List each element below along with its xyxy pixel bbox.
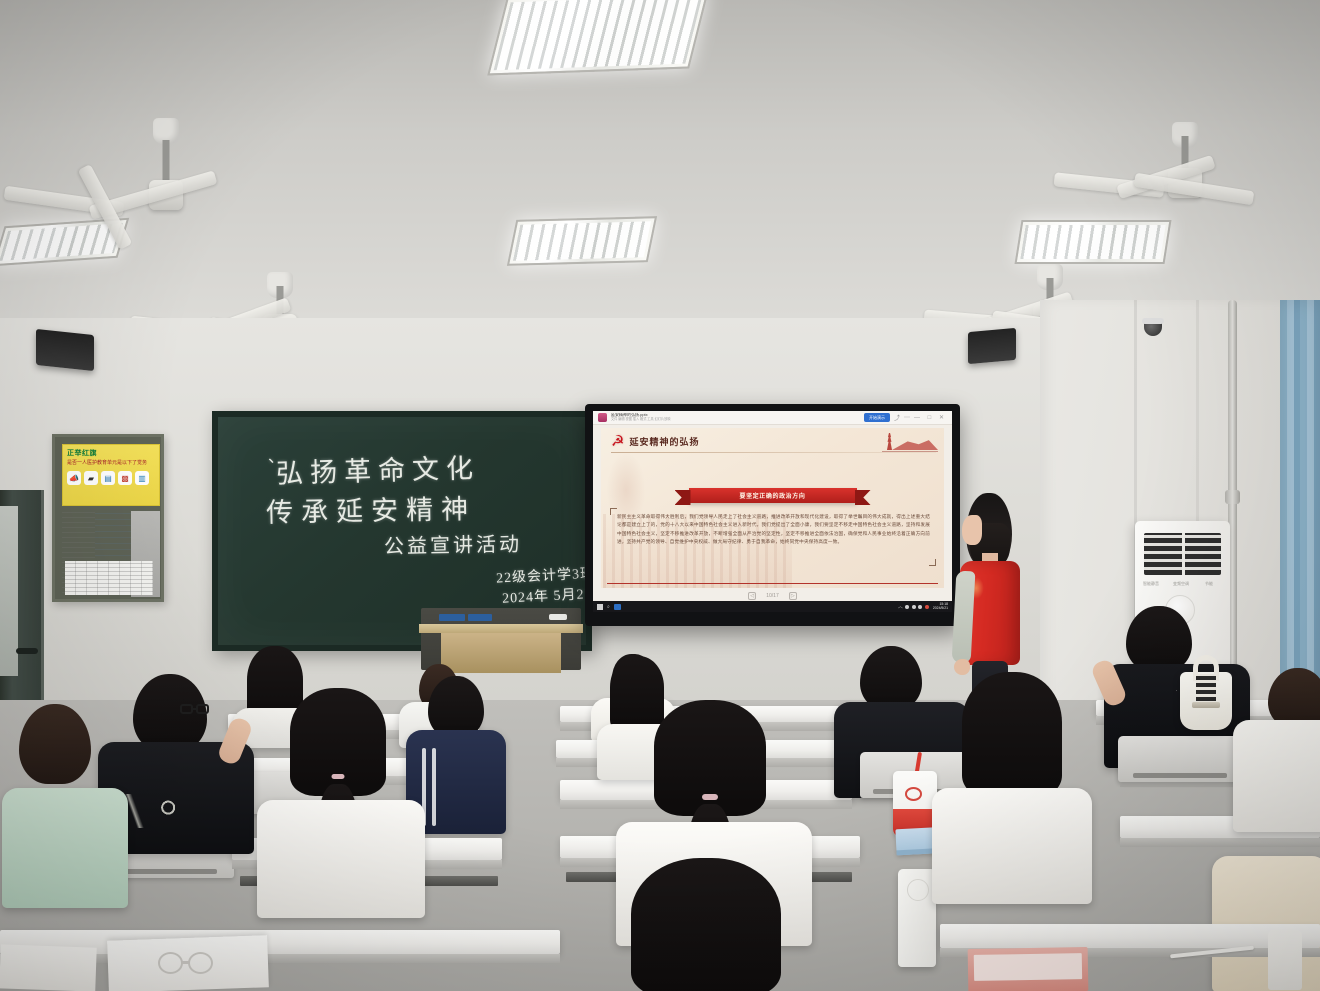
book-icon: ▰ — [84, 471, 98, 485]
lectern-item-blue — [468, 614, 492, 621]
wall-speaker-left — [36, 329, 94, 371]
poster-title: 正举红旗 — [67, 448, 155, 458]
poster-icon-row: 📣 ▰ ▤ ▩ ▥ — [67, 471, 155, 485]
wall-speaker-right — [968, 328, 1016, 364]
lectern-item-blue — [439, 614, 465, 621]
quote-bracket-close — [929, 559, 936, 566]
lectern-top — [419, 624, 583, 633]
building-icon: ▥ — [135, 471, 149, 485]
ribbon-text: 要坚定正确的政治方向 — [739, 491, 805, 500]
next-slide-icon[interactable]: ▷ — [789, 592, 797, 600]
student-longhair-right — [930, 672, 1094, 892]
slide-title: 延安精神的弘扬 — [629, 435, 699, 448]
hair-tie — [702, 794, 718, 800]
network-icon[interactable] — [905, 605, 909, 609]
hair-tie — [331, 774, 344, 779]
student-cream-lace-right — [1210, 836, 1320, 991]
window-controls[interactable]: — □ ✕ — [914, 414, 947, 421]
desk-row-frontmost — [940, 924, 1320, 948]
student-head — [19, 704, 91, 784]
notice-doc-table — [65, 561, 153, 595]
lectern-item-white — [549, 614, 567, 620]
taskbar-app-icon[interactable] — [614, 604, 621, 610]
quote-bracket-open — [610, 508, 617, 515]
app-title-bar: 延安精神的弘扬.pptx 文件 编辑 视图 插入 格式 工具 幻灯片放映 开始演… — [593, 411, 952, 425]
jacket-stripe — [432, 748, 436, 826]
blackboard-line-1: 弘扬革命文化 — [275, 446, 480, 491]
student-hair — [290, 688, 386, 796]
student-frontmost-center — [556, 858, 856, 991]
student-mint-shirt — [0, 704, 130, 904]
ceiling-fan — [1070, 128, 1300, 238]
student-torso — [257, 800, 425, 918]
student-torso — [932, 788, 1092, 904]
display-screen[interactable]: 延安精神的弘扬.pptx 文件 编辑 视图 插入 格式 工具 幻灯片放映 开始演… — [585, 404, 960, 626]
notification-icon[interactable] — [925, 605, 929, 609]
student-head — [860, 646, 922, 710]
windows-taskbar[interactable]: ⌕ ︿ 15:18 2024/5/21 — [593, 601, 952, 612]
volume-icon[interactable] — [912, 605, 916, 609]
ceiling-fan — [36, 118, 296, 246]
notebook-left — [0, 944, 97, 991]
ac-label-right: 节能 — [1205, 581, 1213, 587]
present-button[interactable]: 开始演示 — [864, 413, 890, 422]
slide-title-rule — [611, 452, 936, 453]
taskbar-clock[interactable]: 15:18 2024/5/21 — [933, 603, 948, 610]
notice-board: 正举红旗 是否一人医护教育单元是以下了觉务 📣 ▰ ▤ ▩ ▥ — [52, 434, 164, 602]
red-folder — [968, 947, 1089, 991]
student-hair — [962, 672, 1062, 798]
student-torso — [2, 788, 128, 908]
bottle-right — [1268, 930, 1302, 990]
slide-page-indicator: 10/17 — [766, 593, 779, 599]
windows-start-icon[interactable] — [597, 604, 603, 610]
yanan-pagoda-icon — [876, 432, 938, 452]
ac-vent-grille — [1144, 533, 1221, 575]
ceiling-light-panel — [507, 216, 657, 266]
blackboard-line-3: 公益宣讲活动 — [384, 528, 522, 559]
student-hair — [631, 858, 781, 991]
search-icon[interactable]: ⌕ — [607, 604, 610, 610]
clock-date: 2024/5/21 — [933, 607, 948, 611]
system-tray[interactable]: ︿ — [898, 603, 929, 610]
classroom-photo: 正举红旗 是否一人医护教育单元是以下了觉务 📣 ▰ ▤ ▩ ▥ 、 弘扬革命文化… — [0, 0, 1320, 991]
student-head — [428, 676, 484, 738]
presentation-slide: ☭ 延安精神的弘扬 要坚定正确的政治方向 新民主主义革命取得伟大胜利后，我们党领… — [601, 428, 944, 588]
presenter-face — [962, 515, 982, 545]
student-torso — [1233, 720, 1320, 832]
ac-label-center: 变频空调 — [1173, 581, 1189, 587]
student-head — [1268, 668, 1320, 728]
notice-poster: 正举红旗 是否一人医护教育单元是以下了觉务 📣 ▰ ▤ ▩ ▥ — [62, 444, 160, 506]
slide-bottom-rule — [607, 583, 938, 585]
eyeglasses-icon — [180, 704, 210, 715]
share-icon[interactable]: ⤴ — [894, 413, 900, 422]
student-head — [1126, 606, 1192, 672]
ac-label-left: 智能静音 — [1143, 581, 1159, 587]
student-ponytail-front-center — [256, 688, 426, 908]
ceiling-light-panel — [487, 0, 709, 75]
party-emblem-icon: ☭ — [611, 434, 624, 449]
battery-icon[interactable] — [918, 605, 922, 609]
blackboard-line-2: 传承延安精神 — [266, 487, 477, 530]
people-icon: ▩ — [118, 471, 132, 485]
eyeglasses-on-desk-icon — [158, 952, 220, 978]
screen-icon: ▤ — [101, 471, 115, 485]
megaphone-icon: 📣 — [67, 471, 81, 485]
app-menu-bar: 文件 编辑 视图 插入 格式 工具 幻灯片放映 — [611, 418, 860, 421]
shirt-print-text: · — [1176, 688, 1179, 694]
more-icon[interactable]: ⋯ — [904, 414, 910, 421]
door-handle[interactable] — [16, 648, 38, 654]
chevron-up-icon[interactable]: ︿ — [898, 603, 903, 610]
lectern — [421, 608, 581, 670]
screen-content: 延安精神的弘扬.pptx 文件 编辑 视图 插入 格式 工具 幻灯片放映 开始演… — [593, 411, 952, 612]
prev-slide-icon[interactable]: ◁ — [748, 592, 756, 600]
white-handbag — [1180, 672, 1232, 730]
poster-subtitle: 是否一人医护教育单元是以下了觉务 — [67, 460, 155, 467]
chair — [1118, 736, 1242, 782]
slide-ribbon-banner: 要坚定正确的政治方向 — [689, 488, 857, 503]
document-app-icon — [598, 413, 607, 422]
slide-body-text: 新民主主义革命取得伟大胜利后，我们党领导人民走上了社会主义道路，推进改革开放和现… — [617, 513, 930, 547]
